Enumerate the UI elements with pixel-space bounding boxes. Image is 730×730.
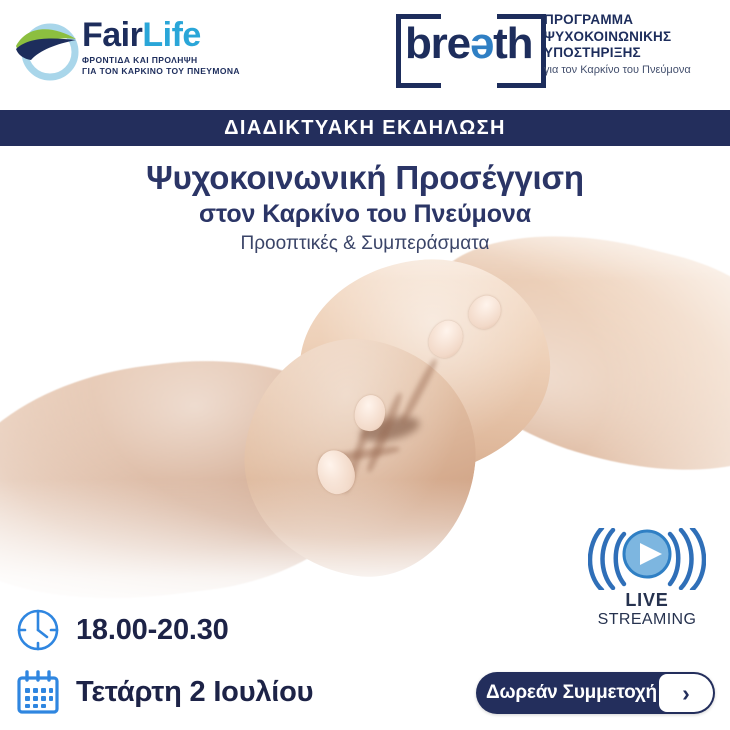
breath-subtitle-line1: ΠΡΟΓΡΑΜΜΑ xyxy=(544,12,719,29)
live-badge-line1: LIVE xyxy=(588,590,706,610)
poster-header: FairLife ΦΡΟΝΤΙΔΑ ΚΑΙ ΠΡΟΛΗΨΗ ΓΙΑ ΤΟΝ ΚΑ… xyxy=(0,0,730,108)
event-type-banner-text: ΔΙΑΔΙΚΤΥΑΚΗ ΕΚΔΗΛΩΣΗ xyxy=(224,117,506,140)
page-tagline: Προοπτικές & Συμπεράσματα xyxy=(0,230,730,258)
clock-icon xyxy=(14,606,62,654)
breath-subtitle-block: ΠΡΟΓΡΑΜΜΑ ΨΥΧΟΚΟΙΝΩΝΙΚΗΣ ΥΠΟΣΤΗΡΙΞΗΣ για… xyxy=(544,12,719,77)
event-time-value: 18.00-20.30 xyxy=(76,614,229,647)
breath-subtitle-line3: ΥΠΟΣΤΗΡΙΞΗΣ xyxy=(544,45,719,62)
breath-wordmark-pre: bre xyxy=(405,19,470,68)
free-registration-label: Δωρεάν Συμμετοχή xyxy=(476,682,659,704)
webinar-poster: FairLife ΦΡΟΝΤΙΔΑ ΚΑΙ ΠΡΟΛΗΨΗ ΓΙΑ ΤΟΝ ΚΑ… xyxy=(0,0,730,730)
live-streaming-badge: LIVE STREAMING xyxy=(588,528,706,636)
fairlife-name: FairLife xyxy=(82,18,282,52)
broadcast-waves-icon xyxy=(588,528,706,590)
page-subtitle: στον Καρκίνο του Πνεύμονα xyxy=(0,198,730,230)
free-registration-button[interactable]: Δωρεάν Συμμετοχή › xyxy=(476,672,715,714)
fairlife-logo: FairLife ΦΡΟΝΤΙΔΑ ΚΑΙ ΠΡΟΛΗΨΗ ΓΙΑ ΤΟΝ ΚΑ… xyxy=(14,14,284,88)
fairlife-name-life: Life xyxy=(142,16,200,54)
fairlife-name-fair: Fair xyxy=(82,16,142,54)
event-title-block: Ψυχοκοινωνική Προσέγγιση στον Καρκίνο το… xyxy=(0,158,730,258)
breath-logo: breəth ΠΡΟΓΡΑΜΜΑ ΨΥΧΟΚΟΙΝΩΝΙΚΗΣ ΥΠΟΣΤΗΡΙ… xyxy=(396,12,716,92)
breath-wordmark-post: th xyxy=(493,19,532,68)
wave-circle-logo-icon xyxy=(14,16,84,82)
breath-subtitle-line2: ΨΥΧΟΚΟΙΝΩΝΙΚΗΣ xyxy=(544,29,719,46)
breath-subtitle-line4: για τον Καρκίνο του Πνεύμονα xyxy=(544,63,719,77)
breath-wordmark: breəth xyxy=(405,18,532,70)
event-date-row: Τετάρτη 2 Ιουλίου xyxy=(14,668,313,716)
fairlife-tagline-line2: ΓΙΑ ΤΟΝ ΚΑΡΚΙΝΟ ΤΟΥ ΠΝΕΥΜΟΝΑ xyxy=(82,66,282,77)
event-type-banner: ΔΙΑΔΙΚΤΥΑΚΗ ΕΚΔΗΛΩΣΗ xyxy=(0,110,730,146)
page-title: Ψυχοκοινωνική Προσέγγιση xyxy=(0,158,730,198)
event-time-row: 18.00-20.30 xyxy=(14,606,229,654)
fairlife-tagline-line1: ΦΡΟΝΤΙΔΑ ΚΑΙ ΠΡΟΛΗΨΗ xyxy=(82,55,282,66)
calendar-icon xyxy=(14,668,62,716)
breath-wordmark-schwa: ə xyxy=(470,19,493,68)
fairlife-wordmark: FairLife ΦΡΟΝΤΙΔΑ ΚΑΙ ΠΡΟΛΗΨΗ ΓΙΑ ΤΟΝ ΚΑ… xyxy=(82,18,282,77)
event-date-value: Τετάρτη 2 Ιουλίου xyxy=(76,676,313,709)
live-badge-line2: STREAMING xyxy=(588,610,706,629)
chevron-right-icon[interactable]: › xyxy=(659,674,713,712)
